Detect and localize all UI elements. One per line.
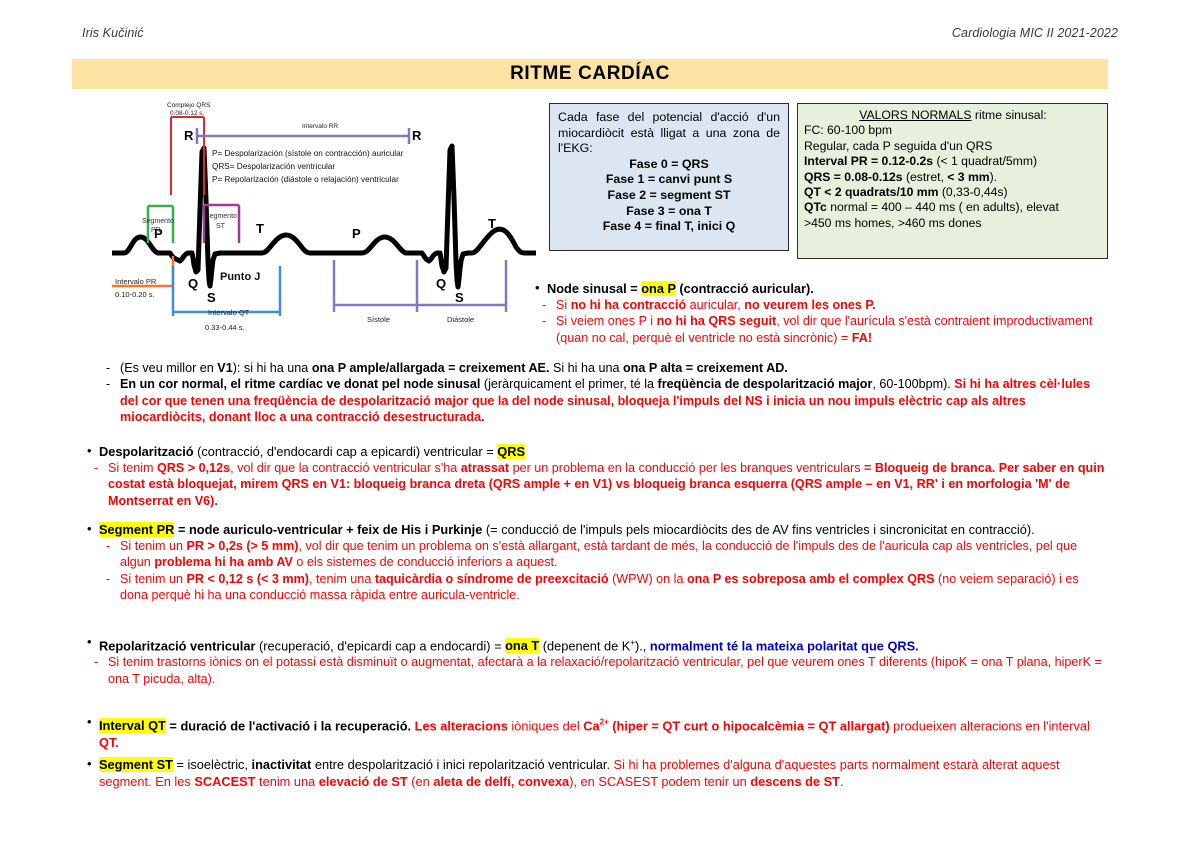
desp-b: (contracció, d'endocardi cap a epicardi)…: [194, 444, 498, 459]
ecg-label-complejo-qrs-dur: 0.08-0.12 s.: [170, 110, 205, 117]
v1-block: -(Es veu millor en V1): si hi ha una ona…: [86, 360, 1110, 426]
normal-values-qt-rest: (0,33-0,44s): [938, 185, 1007, 199]
ecg-label-intervalo-qt: Intervalo QT: [208, 308, 250, 317]
ecg-legend-p: P= Despolarización (sístole on contracci…: [212, 149, 404, 158]
header-author: Iris Kučinić: [82, 26, 144, 40]
normal-values-box: VALORS NORMALS ritme sinusal: FC: 60-100…: [797, 103, 1108, 259]
repol-a: Repolarització ventricular: [99, 638, 255, 653]
dash-marker: -: [94, 460, 98, 476]
dash-marker: -: [106, 571, 110, 587]
page-title: RITME CARDÍAC: [510, 63, 670, 85]
desp-s-d: atrassat: [461, 461, 509, 475]
ecg-label-segmento-st2: ST: [216, 223, 226, 230]
ecg-label-q2: Q: [436, 276, 446, 291]
normal-values-title: VALORS NORMALS ritme sinusal:: [804, 108, 1102, 123]
v1-f: ona P alta = creixement AD.: [623, 361, 788, 375]
ecg-label-diastole: Diástole: [447, 315, 474, 324]
qt-sup: 2+: [600, 718, 609, 727]
segst-red6: aleta de delfí, convexa: [433, 774, 569, 789]
node-sinusal-b: (contracció auricular).: [676, 281, 814, 296]
segpr-b: node auriculo-ventricular + feix de His …: [189, 522, 482, 537]
phase-item-2: Fase 2 = segment ST: [558, 188, 780, 204]
qt-red3: Ca: [583, 718, 599, 733]
normal-values-line-qt: QT < 2 quadrats/10 mm (0,33-0,44s): [804, 185, 1102, 200]
normal-values-qtc-bold: QTc: [804, 200, 827, 214]
segpr-s2-f: ona P es sobreposa amb el complex QRS: [687, 572, 935, 586]
v1-d: ona P ample/allargada = creixement AE.: [312, 361, 550, 375]
repol-highlight: ona T: [505, 638, 539, 653]
node-sinusal-sub-2: -Si veiem ones P i no hi ha QRS seguit, …: [534, 313, 1109, 346]
v1-line: -(Es veu millor en V1): si hi ha una ona…: [86, 360, 1110, 376]
ecg-label-p2: P: [352, 226, 361, 241]
ecg-label-punto-j: Punto J: [220, 271, 260, 283]
qt-b: duració de l'activació i la recuperació.: [180, 718, 411, 733]
ecg-label-s2: S: [455, 290, 464, 305]
ecg-label-sistole: Sístole: [367, 315, 390, 324]
node-sinusal-bullet: Node sinusal = ona P (contracció auricul…: [534, 280, 1109, 297]
ecg-label-t1: T: [256, 221, 264, 236]
segst-highlight: Segment ST: [99, 757, 173, 772]
dash-marker: -: [542, 313, 546, 329]
segment-pr-sub-2: -Si tenim un PR < 0,12 s (< 3 mm), tenim…: [86, 571, 1110, 604]
v1-e: Si hi ha una: [549, 361, 623, 375]
segpr-s1-b: PR > 0,2s (> 5 mm): [187, 539, 299, 553]
ecg-legend-p2: P= Repolarización (diástole o relajación…: [212, 175, 399, 184]
ecg-label-intervalo-pr-dur: 0.10-0.20 s.: [115, 290, 155, 299]
segst-red3: tenim una: [255, 774, 318, 789]
desp-s-b: QRS > 0,12s: [157, 461, 230, 475]
phases-box: Cada fase del potencial d'acció d'un mio…: [549, 103, 789, 251]
repolaritzacio-sub: -Si tenim trastorns iònics on el potassi…: [86, 654, 1110, 687]
ecg-label-s1: S: [207, 290, 216, 305]
ns-sub2-a: Si veiem ones P i: [556, 314, 657, 328]
normal-values-title-rest: ritme sinusal:: [972, 108, 1047, 122]
ecg-legend-qrs: QRS= Despolarización ventricular: [212, 162, 335, 171]
normal-values-qrs-rest2: ).: [990, 170, 997, 184]
desp-highlight: QRS: [497, 444, 525, 459]
node-sinusal-highlight: ona P: [641, 281, 676, 296]
phase-item-0: Fase 0 = QRS: [558, 157, 780, 173]
repol-b: (recuperació, d'epicardi cap a endocardi…: [255, 638, 505, 653]
rr-interval-bracket: [197, 128, 409, 144]
systole-diastole-bracket: [334, 260, 506, 312]
v1-c: ): si hi ha una: [233, 361, 312, 375]
repol-s-a: Si tenim trastorns iònics on el potassi …: [108, 655, 1102, 685]
ecg-label-complejo-qrs: Complejo QRS: [167, 102, 211, 109]
segst-red4: elevació de ST: [319, 774, 408, 789]
dash-marker: -: [94, 654, 98, 670]
dash-marker: -: [106, 360, 110, 376]
ecg-label-r2: R: [412, 128, 422, 143]
phase-item-1: Fase 1 = canvi punt S: [558, 172, 780, 188]
normal-values-title-underline: VALORS NORMALS: [859, 108, 971, 122]
normal-values-line-pr: Interval PR = 0.12-0.2s (< 1 quadrat/5mm…: [804, 154, 1102, 169]
segst-red2: SCACEST: [194, 774, 255, 789]
dash-marker: -: [542, 297, 546, 313]
cn-d: , 60-100bpm).: [872, 377, 954, 391]
segment-st-block: Segment ST = isoelèctric, inactivitat en…: [86, 756, 1110, 790]
desp-s-e: per un problema en la conducció per les …: [509, 461, 864, 475]
ns-sub2-b: no hi ha QRS seguit: [657, 314, 777, 328]
normal-values-line-qrs: QRS = 0.08-0.12s (estret, < 3 mm).: [804, 170, 1102, 185]
segpr-s1-a: Si tenim un: [120, 539, 187, 553]
cor-normal-line: -En un cor normal, el ritme cardíac ve d…: [86, 376, 1110, 425]
node-sinusal-a: Node sinusal =: [547, 281, 641, 296]
repol-d: ).,: [635, 638, 650, 653]
normal-values-qt-bold: QT < 2 quadrats/10 mm: [804, 185, 938, 199]
segst-red7: ), en SCASEST podem tenir un: [569, 774, 750, 789]
segst-red5: (en: [408, 774, 434, 789]
desp-s-a: Si tenim: [108, 461, 157, 475]
ecg-label-intervalo-rr: Intervalo RR: [302, 123, 338, 130]
segpr-s2-a: Si tenim un: [120, 572, 187, 586]
segst-red8: descens de ST: [750, 774, 840, 789]
ecg-label-intervalo-qt-dur: 0.33-0.44 s.: [205, 323, 245, 332]
normal-values-qrs-bold2: < 3 mm: [947, 170, 989, 184]
ns-sub1-a: Si: [556, 298, 571, 312]
ecg-label-q1: Q: [188, 276, 198, 291]
phases-intro: Cada fase del potencial d'acció d'un mio…: [558, 110, 780, 157]
segpr-s2-b: PR < 0,12 s (< 3 mm): [187, 572, 310, 586]
segpr-s1-d: problema hi ha amb AV: [154, 555, 293, 569]
ecg-label-r1: R: [184, 128, 194, 143]
ecg-diagram: P Q R S T P Q R S T Complejo QRS 0.08-0.…: [112, 90, 536, 352]
qt-red1: Les alteracions: [411, 718, 508, 733]
segpr-s2-e: (WPW) on la: [609, 572, 687, 586]
interval-qt-block: Interval QT = duració de l'activació i l…: [86, 714, 1110, 751]
segst-b: inactivitat: [252, 757, 312, 772]
ns-sub2-c: , vol dir que l'aurícula s'està contraie…: [776, 314, 989, 328]
page-title-bar: RITME CARDÍAC: [72, 59, 1108, 89]
document-page: Iris Kučinić Cardiologia MIC II 2021-202…: [0, 0, 1200, 849]
segpr-c: (= conducció de l'impuls pels miocardiòc…: [482, 522, 1034, 537]
segment-pr-bullet: Segment PR = node auriculo-ventricular +…: [86, 521, 1110, 538]
despolaritzacio-bullet: Despolarització (contracció, d'endocardi…: [86, 443, 1110, 460]
v1-b: V1: [217, 361, 232, 375]
segpr-s2-d: taquicàrdia o síndrome de preexcitació: [375, 572, 609, 586]
normal-values-qrs-bold: QRS = 0.08-0.12s: [804, 170, 903, 184]
normal-values-line-qtc: QTc normal = 400 – 440 ms ( en adults), …: [804, 200, 1102, 215]
qt-red2: iòniques del: [508, 718, 583, 733]
repol-blue: normalment té la mateixa polaritat que Q…: [650, 638, 919, 653]
segpr-s2-c: , tenim una: [309, 572, 375, 586]
ns-sub1-b: no hi ha contracció: [571, 298, 686, 312]
ecg-label-segmento-pr: Segmento: [142, 218, 174, 225]
segpr-a: =: [174, 522, 189, 537]
segst-c: entre despolarització i inici repolaritz…: [311, 757, 613, 772]
qt-red4: (hiper = QT curt o hipocalcèmia = QT all…: [609, 718, 890, 733]
qt-red6: QT.: [99, 735, 119, 750]
segment-pr-sub-1: -Si tenim un PR > 0,2s (> 5 mm), vol dir…: [86, 538, 1110, 571]
segpr-s1-e: o els sistemes de conducció inferiors a …: [293, 555, 558, 569]
node-sinusal-block: Node sinusal = ona P (contracció auricul…: [534, 280, 1109, 346]
segpr-highlight: Segment PR: [99, 522, 174, 537]
normal-values-pr-rest: (< 1 quadrat/5mm): [933, 154, 1037, 168]
repolaritzacio-bullet: Repolarització ventricular (recuperació,…: [86, 634, 1110, 654]
ns-sub1-d: no veurem les ones P.: [744, 298, 875, 312]
page-header: Iris Kučinić Cardiologia MIC II 2021-202…: [82, 26, 1118, 40]
normal-values-line-regular: Regular, cada P seguida d'un QRS: [804, 139, 1102, 154]
node-sinusal-sub-1: -Si no hi ha contracció auricular, no ve…: [534, 297, 1109, 313]
despolaritzacio-block: Despolarització (contracció, d'endocardi…: [86, 443, 1110, 509]
dash-marker: -: [106, 376, 110, 392]
segment-st-bullet: Segment ST = isoelèctric, inactivitat en…: [86, 756, 1110, 790]
qt-a: =: [166, 718, 181, 733]
normal-values-pr-bold: Interval PR = 0.12-0.2s: [804, 154, 933, 168]
ecg-label-segmento-pr2: PR: [151, 227, 161, 234]
segment-pr-block: Segment PR = node auriculo-ventricular +…: [86, 521, 1110, 604]
segst-a: = isoelèctric,: [173, 757, 252, 772]
phase-item-4: Fase 4 = final T, inici Q: [558, 219, 780, 235]
interval-qt-bullet: Interval QT = duració de l'activació i l…: [86, 714, 1110, 751]
normal-values-line-fc: FC: 60-100 bpm: [804, 123, 1102, 138]
despolaritzacio-sub: -Si tenim QRS > 0,12s, vol dir que la co…: [86, 460, 1110, 509]
cn-a: En un cor normal, el ritme cardíac ve do…: [120, 377, 480, 391]
header-course: Cardiologia MIC II 2021-2022: [952, 26, 1118, 40]
ecg-label-segmento-st: Segmento: [205, 213, 237, 220]
repol-c: (depenent de K: [539, 638, 630, 653]
phase-item-3: Fase 3 = ona T: [558, 204, 780, 220]
normal-values-line-qtc2: >450 ms homes, >460 ms dones: [804, 216, 1102, 231]
desp-s-c: , vol dir que la contracció ventricular …: [230, 461, 461, 475]
repolaritzacio-block: Repolarització ventricular (recuperació,…: [86, 634, 1110, 687]
ecg-label-t2: T: [488, 216, 496, 231]
desp-a: Despolarització: [99, 444, 194, 459]
ns-sub1-c: auricular,: [686, 298, 744, 312]
qt-red5: produeixen alteracions en l'interval: [890, 718, 1090, 733]
v1-a: (Es veu millor en: [120, 361, 217, 375]
normal-values-qtc-rest: normal = 400 – 440 ms ( en adults), elev…: [827, 200, 1059, 214]
ecg-label-intervalo-pr: Intervalo PR: [115, 277, 157, 286]
qt-highlight: Interval QT: [99, 718, 166, 733]
cn-c: freqüència de despolarització major: [658, 377, 873, 391]
normal-values-qrs-rest: (estret,: [903, 170, 948, 184]
cn-b: (jeràrquicament el primer, té la: [480, 377, 657, 391]
ns-sub2-e: FA!: [852, 331, 872, 345]
dash-marker: -: [106, 538, 110, 554]
segst-red9: .: [840, 774, 844, 789]
